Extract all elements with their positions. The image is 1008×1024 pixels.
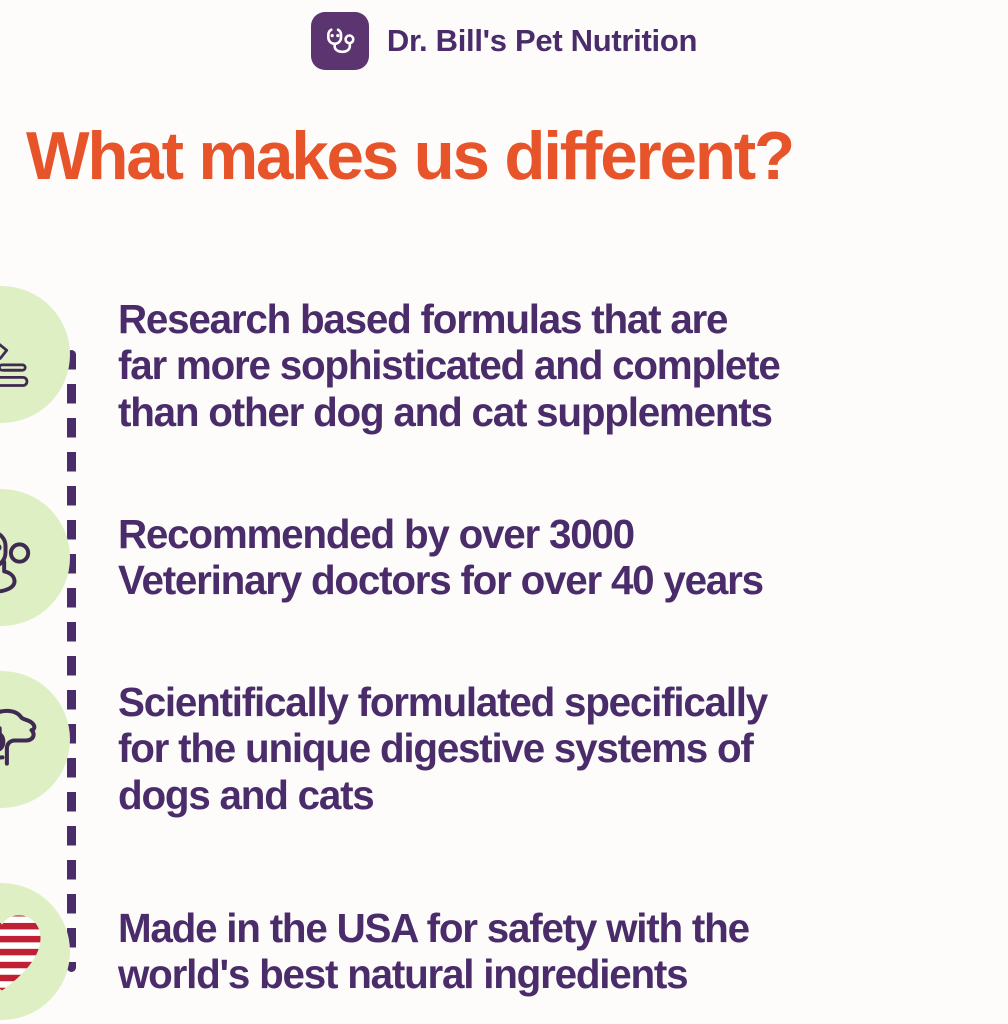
feature-icon-badge	[0, 671, 70, 808]
feature-text: Recommended by over 3000 Veterinary doct…	[118, 489, 763, 604]
stethoscope-logo-icon	[320, 21, 360, 61]
feature-item-formulated: Scientifically formulated specifically f…	[0, 671, 1008, 818]
feature-item-made-in-usa: Made in the USA for safety with the worl…	[0, 883, 1008, 1020]
feature-item-recommended: Recommended by over 3000 Veterinary doct…	[0, 489, 1008, 626]
feature-text: Scientifically formulated specifically f…	[118, 671, 767, 818]
feature-list: Research based formulas that are far mor…	[0, 286, 1008, 1024]
page-title: What makes us different?	[26, 122, 976, 190]
brand-header: Dr. Bill's Pet Nutrition	[0, 6, 1008, 76]
dog-and-cat-icon	[0, 693, 49, 787]
brand-name: Dr. Bill's Pet Nutrition	[387, 23, 697, 59]
dashed-connector-line	[67, 350, 76, 972]
feature-icon-badge	[0, 489, 70, 626]
brand-logo	[311, 12, 369, 70]
infographic-page: Dr. Bill's Pet Nutrition What makes us d…	[0, 0, 1008, 1024]
usa-flag-heart-icon	[0, 910, 46, 994]
feature-icon-badge	[0, 883, 70, 1020]
feature-text: Made in the USA for safety with the worl…	[118, 883, 749, 998]
microscope-icon	[0, 312, 45, 398]
feature-text: Research based formulas that are far mor…	[118, 286, 780, 435]
feature-icon-badge	[0, 286, 70, 423]
stethoscope-icon	[0, 513, 47, 603]
feature-item-research: Research based formulas that are far mor…	[0, 286, 1008, 435]
